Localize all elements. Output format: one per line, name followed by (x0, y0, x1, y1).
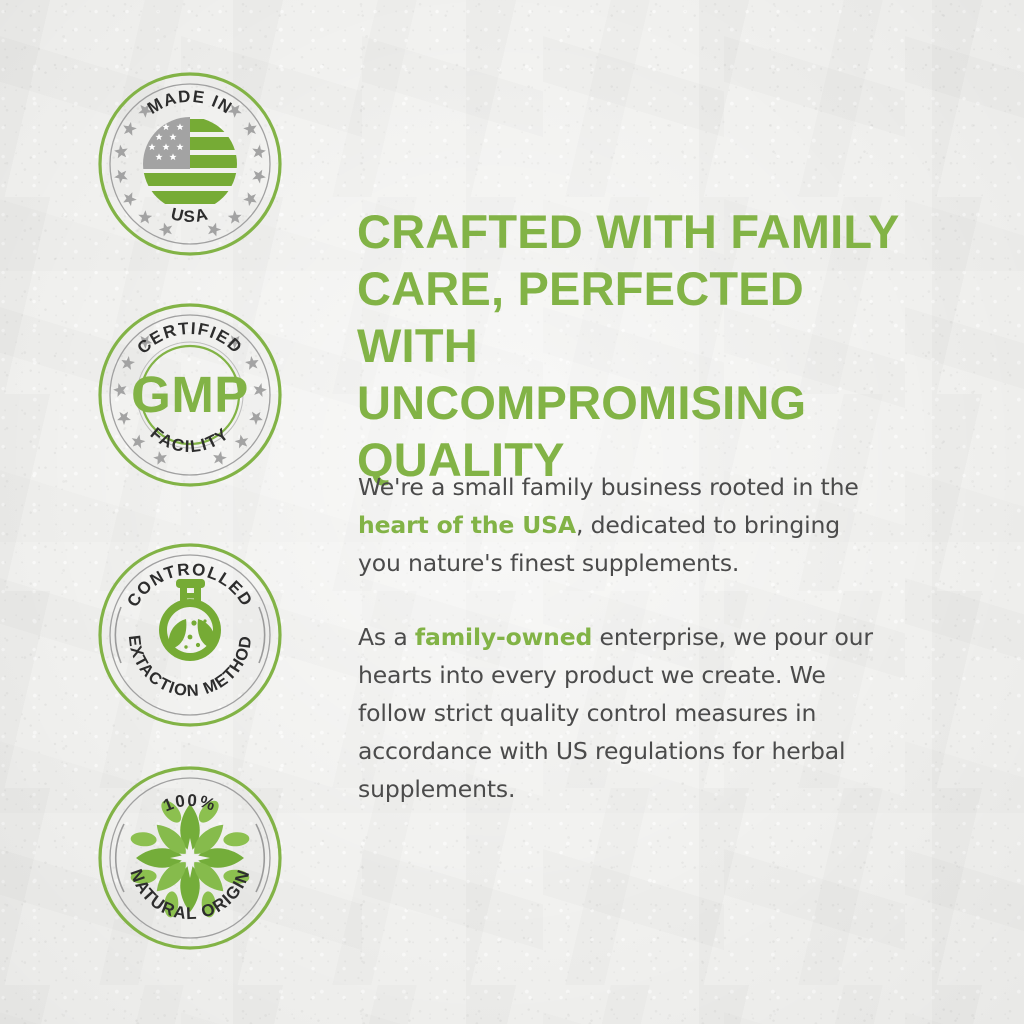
badge-natural-origin: 100% NATURAL ORIGIN (98, 766, 282, 950)
text-column: CRAFTED WITH FAMILY CARE, PERFECTED WITH… (357, 0, 957, 1024)
badge-left-flourish (115, 607, 121, 663)
svg-text:FACILITY: FACILITY (147, 424, 233, 457)
badge-right-flourish (259, 607, 265, 663)
paragraph-1-before: We're a small family business rooted in … (358, 473, 859, 501)
paragraph-2-highlight: family-owned (415, 623, 592, 651)
badge-right-flourish (256, 824, 264, 892)
svg-text:USA: USA (169, 204, 211, 226)
badge-top-label: CERTIFIED (134, 319, 247, 358)
badge-made-in-usa: MADE IN USA (98, 72, 282, 256)
badge-bottom-label: USA (169, 204, 211, 226)
badge-center-label: GMP (131, 366, 249, 423)
body-copy: We're a small family business rooted in … (358, 468, 888, 844)
headline-line-2: CARE, PERFECTED WITH (357, 262, 804, 372)
certification-badge-column: MADE IN USA (0, 0, 330, 1024)
paragraph-2: As a family-owned enterprise, we pour ou… (358, 618, 888, 808)
paragraph-1-highlight: heart of the USA (358, 511, 576, 539)
badge-left-flourish (116, 824, 124, 892)
headline-line-1: CRAFTED WITH FAMILY (357, 205, 900, 258)
badge-bottom-label: FACILITY (147, 424, 233, 457)
svg-text:CERTIFIED: CERTIFIED (134, 319, 247, 358)
promo-banner: MADE IN USA (0, 0, 1024, 1024)
badge-controlled-extraction: CONTROLLED EXTACTION METHOD (98, 543, 282, 727)
svg-text:EXTACTION METHOD: EXTACTION METHOD (125, 634, 256, 700)
badge-gmp-certified: GMP CERTIFIED FACILITY (98, 303, 282, 487)
paragraph-2-before: As a (358, 623, 415, 651)
page-title: CRAFTED WITH FAMILY CARE, PERFECTED WITH… (357, 203, 927, 488)
badge-bottom-label: EXTACTION METHOD (125, 634, 256, 700)
headline-line-3: UNCOMPROMISING (357, 376, 806, 429)
usa-flag-icon (142, 117, 248, 211)
paragraph-1: We're a small family business rooted in … (358, 468, 888, 582)
flask-leaf-icon (159, 579, 221, 661)
